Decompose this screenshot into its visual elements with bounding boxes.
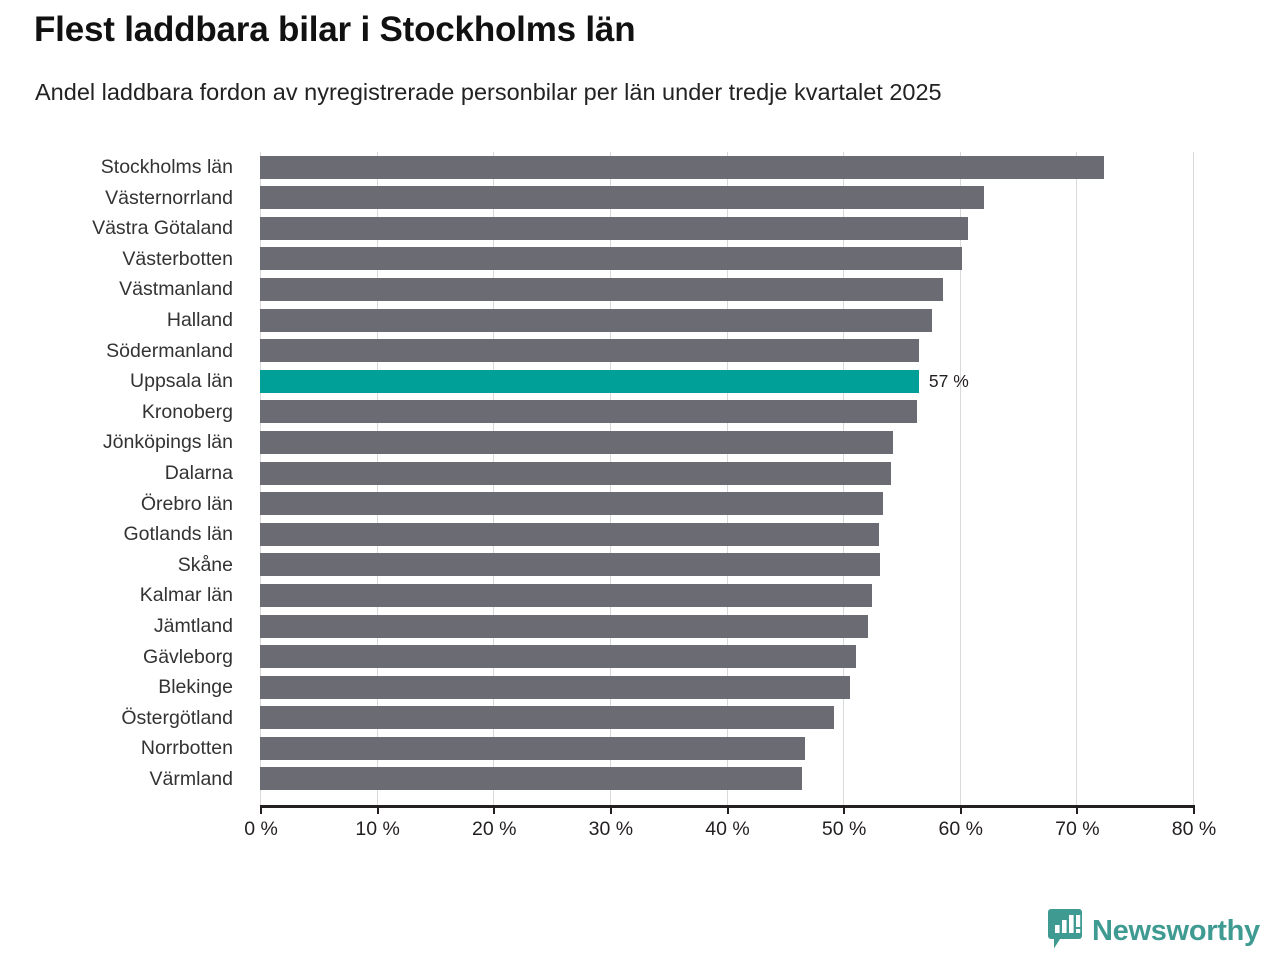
bar-stockholms-län[interactable] <box>260 156 1104 179</box>
bar-uppsala-län[interactable] <box>260 370 919 393</box>
x-tick-label-50: 50 % <box>822 818 866 841</box>
bar-row[interactable] <box>260 152 1193 183</box>
bar-kalmar-län[interactable] <box>260 584 872 607</box>
bar-row[interactable] <box>260 703 1193 734</box>
bar-row[interactable] <box>260 550 1193 581</box>
newsworthy-wordmark: Newsworthy <box>1092 917 1260 946</box>
bar-value-label: 57 % <box>929 370 969 392</box>
x-tick-label-80: 80 % <box>1172 818 1216 841</box>
bar-row[interactable]: 57 % <box>260 366 1193 397</box>
bar-jämtland[interactable] <box>260 615 868 638</box>
x-tick-10 <box>377 805 379 814</box>
page-title: Flest laddbara bilar i Stockholms län <box>34 10 635 50</box>
x-tick-30 <box>610 805 612 814</box>
page-subtitle: Andel laddbara fordon av nyregistrerade … <box>35 79 942 106</box>
bar-gävleborg[interactable] <box>260 645 856 668</box>
bar-gotlands-län[interactable] <box>260 523 879 546</box>
newsworthy-logo: Newsworthy <box>1047 908 1260 955</box>
bar-västra-götaland[interactable] <box>260 217 968 240</box>
bar-norrbotten[interactable] <box>260 737 805 760</box>
bar-row[interactable] <box>260 580 1193 611</box>
x-tick-50 <box>843 805 845 814</box>
bar-halland[interactable] <box>260 309 932 332</box>
bar-västerbotten[interactable] <box>260 247 962 270</box>
gridline-80 <box>1193 152 1194 805</box>
bar-östergötland[interactable] <box>260 706 834 729</box>
bar-jönköpings-län[interactable] <box>260 431 893 454</box>
bar-dalarna[interactable] <box>260 462 891 485</box>
bar-row[interactable] <box>260 213 1193 244</box>
plot-area: 57 % <box>260 152 1193 805</box>
bar-örebro-län[interactable] <box>260 492 883 515</box>
bar-row[interactable] <box>260 336 1193 367</box>
x-tick-0 <box>260 805 262 814</box>
x-tick-label-30: 30 % <box>589 818 633 841</box>
x-tick-label-60: 60 % <box>939 818 983 841</box>
newsworthy-bar-chart-bubble-icon <box>1047 908 1083 955</box>
bar-västernorrland[interactable] <box>260 186 984 209</box>
bar-rows: 57 % <box>260 152 1193 794</box>
x-tick-20 <box>493 805 495 814</box>
bar-row[interactable] <box>260 611 1193 642</box>
bar-västmanland[interactable] <box>260 278 943 301</box>
bar-row[interactable] <box>260 274 1193 305</box>
bar-row[interactable] <box>260 733 1193 764</box>
bar-chart: 57 % <box>0 140 1280 860</box>
bar-kronoberg[interactable] <box>260 400 917 423</box>
bar-row[interactable] <box>260 305 1193 336</box>
bar-blekinge[interactable] <box>260 676 850 699</box>
x-tick-40 <box>727 805 729 814</box>
x-tick-70 <box>1076 805 1078 814</box>
chart-page: Flest laddbara bilar i Stockholms län An… <box>0 0 1280 960</box>
bar-row[interactable] <box>260 672 1193 703</box>
bar-row[interactable] <box>260 183 1193 214</box>
bar-row[interactable] <box>260 427 1193 458</box>
bar-row[interactable] <box>260 244 1193 275</box>
x-tick-60 <box>960 805 962 814</box>
bar-row[interactable] <box>260 489 1193 520</box>
bar-värmland[interactable] <box>260 767 802 790</box>
bar-row[interactable] <box>260 458 1193 489</box>
bar-row[interactable] <box>260 642 1193 673</box>
x-tick-80 <box>1193 805 1195 814</box>
x-tick-label-40: 40 % <box>705 818 749 841</box>
x-tick-label-20: 20 % <box>472 818 516 841</box>
bar-row[interactable] <box>260 764 1193 795</box>
bar-södermanland[interactable] <box>260 339 919 362</box>
x-tick-label-0: 0 % <box>244 818 278 841</box>
bar-row[interactable] <box>260 397 1193 428</box>
bar-skåne[interactable] <box>260 553 880 576</box>
x-tick-label-70: 70 % <box>1055 818 1099 841</box>
x-tick-label-10: 10 % <box>355 818 399 841</box>
bar-row[interactable] <box>260 519 1193 550</box>
